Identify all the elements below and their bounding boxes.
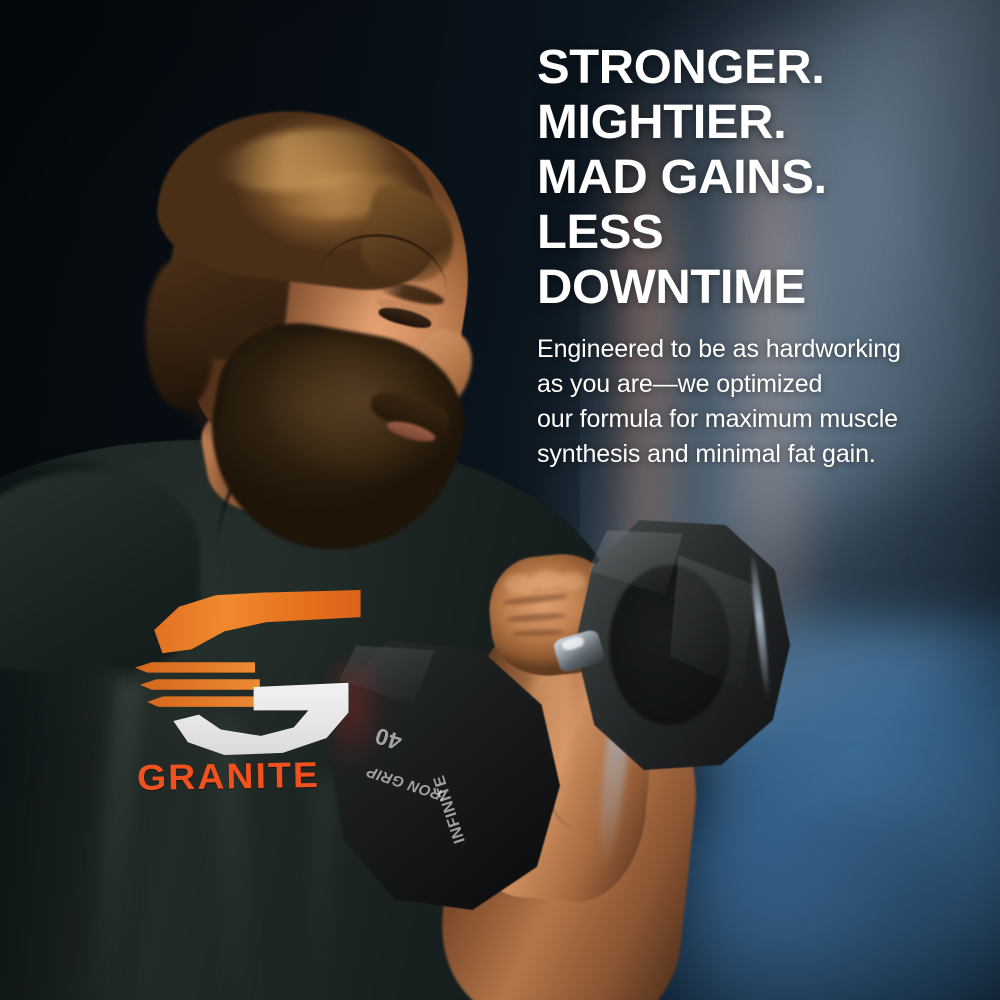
knuckle (504, 574, 536, 594)
logo-speed-line-icon (140, 679, 260, 689)
logo-wordmark: GRANITE (137, 753, 385, 799)
body-line-4: synthesis and minimal fat gain. (537, 437, 957, 472)
body-line-3: our formula for maximum muscle (537, 402, 957, 437)
granite-logo: GRANITE (135, 590, 375, 780)
body-copy: Engineered to be as hardworking as you a… (537, 332, 957, 472)
headline-line-3: MAD GAINS. (537, 150, 965, 205)
headline-line-2: MIGHTIER. (537, 95, 965, 150)
headline-line-1: STRONGER. (537, 40, 965, 95)
logo-swoosh-icon (154, 590, 360, 655)
body-line-2: as you are—we optimized (537, 367, 957, 402)
logo-speed-line-icon (147, 696, 262, 706)
headline-line-5: DOWNTIME (537, 260, 965, 315)
dumbbell-far-head (575, 520, 790, 770)
ad-copy-block: STRONGER. MIGHTIER. MAD GAINS. LESS DOWN… (537, 40, 957, 472)
ad-creative: 40 IRON GRIP INFINITE GRANITE STRONGER. … (0, 0, 1000, 1000)
logo-speed-line-icon (135, 662, 255, 672)
headline: STRONGER. MIGHTIER. MAD GAINS. LESS DOWN… (537, 40, 965, 315)
body-line-1: Engineered to be as hardworking (537, 332, 957, 367)
headline-line-4: LESS (537, 205, 965, 260)
